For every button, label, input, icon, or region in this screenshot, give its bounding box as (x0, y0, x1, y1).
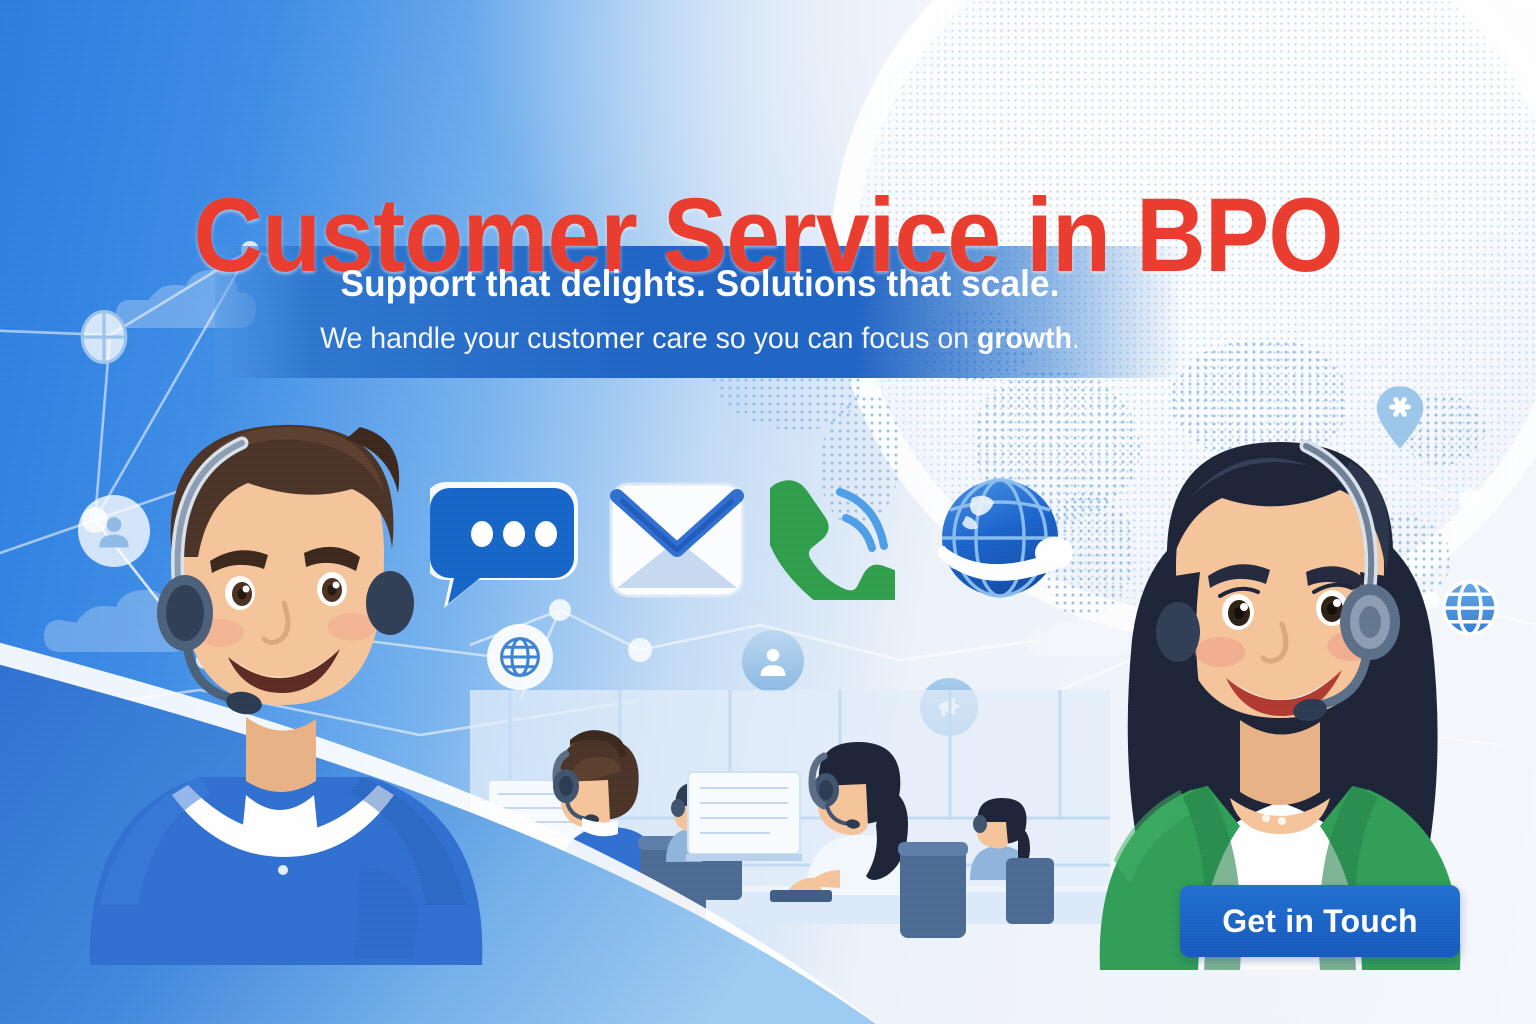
envelope-icon[interactable] (607, 480, 747, 600)
subtitle-secondary-suffix: . (1072, 322, 1080, 355)
phone-icon[interactable] (770, 470, 895, 600)
subtitle-secondary-emphasis: growth (977, 322, 1072, 355)
globe-grid-icon (75, 308, 133, 366)
subtitle-secondary: We handle your customer care so you can … (239, 322, 1161, 356)
subtitle-secondary-prefix: We handle your customer care so you can … (320, 322, 977, 355)
subtitle-primary: Support that delights. Solutions that sc… (239, 263, 1161, 305)
chat-bubble-icon[interactable] (430, 482, 580, 610)
female-support-agent (1070, 390, 1490, 970)
male-support-agent (60, 365, 500, 965)
globe-orbit-icon[interactable] (920, 470, 1080, 605)
get-in-touch-button[interactable]: Get in Touch (1180, 885, 1460, 957)
hero-banner: Customer Service in BPO Support that del… (0, 0, 1536, 1024)
